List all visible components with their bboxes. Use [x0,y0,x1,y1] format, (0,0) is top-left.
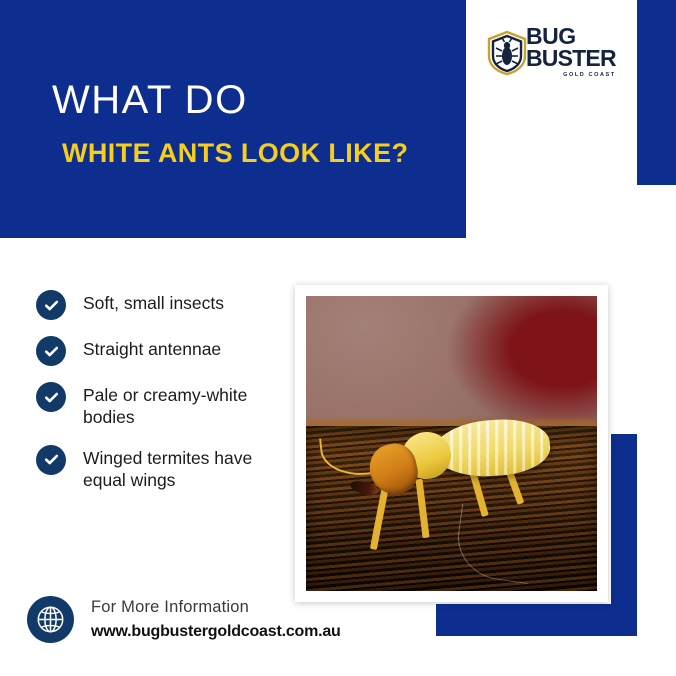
list-item-label: Straight antennae [83,336,221,360]
shield-bug-icon [485,30,529,76]
check-circle-icon [36,445,66,475]
bottom-right-horizontal-accent-bar [436,604,636,636]
top-right-accent-bar [637,0,676,185]
footer-tagline: For More Information [91,596,341,620]
page-title-line-1: WHAT DO [52,80,248,120]
page-title-line-2: WHITE ANTS LOOK LIKE? [62,140,408,167]
logo-wordmark: BUG BUSTER GOLD COAST [526,26,616,78]
footer-website-url[interactable]: www.bugbustergoldcoast.com.au [91,620,341,643]
list-item-label: Winged termites have equal wings [83,445,286,492]
list-item: Winged termites have equal wings [36,445,286,492]
logo-word-buster: BUSTER [526,48,616,70]
list-item: Soft, small insects [36,290,286,320]
check-circle-icon [36,290,66,320]
feature-checklist: Soft, small insects Straight antennae Pa… [36,290,286,508]
footer-contact: For More Information www.bugbustergoldco… [27,596,341,643]
logo-subtitle: GOLD COAST [526,72,616,78]
footer-text-block: For More Information www.bugbustergoldco… [91,596,341,643]
infographic-canvas: WHAT DO WHITE ANTS LOOK LIKE? BUG BUSTER… [0,0,676,676]
list-item: Straight antennae [36,336,286,366]
globe-icon [27,596,74,643]
list-item: Pale or creamy-white bodies [36,382,286,429]
brand-logo[interactable]: BUG BUSTER GOLD COAST [485,26,635,82]
termite-photo [306,296,597,591]
list-item-label: Pale or creamy-white bodies [83,382,286,429]
list-item-label: Soft, small insects [83,290,224,314]
termite-photo-frame [295,285,608,602]
check-circle-icon [36,382,66,412]
check-circle-icon [36,336,66,366]
